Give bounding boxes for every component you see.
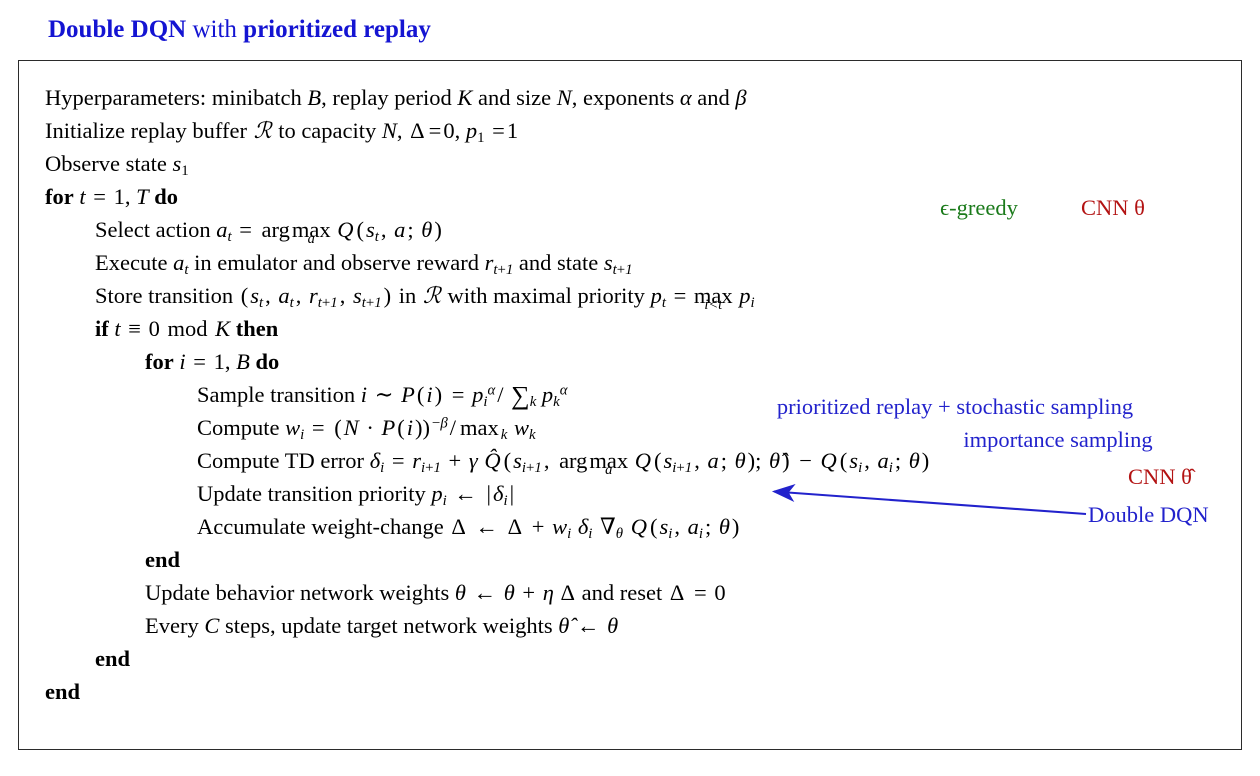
- label-update-behavior: Update behavior network weights: [145, 580, 449, 605]
- kw-end-3: end: [45, 679, 80, 704]
- slide-page: Double DQN with prioritized replay Hyper…: [0, 0, 1260, 776]
- algo-line-select-action: Select action at = argmaxa Q(st, a; θ): [45, 213, 1225, 246]
- label-execute: Execute: [95, 250, 167, 275]
- sym-at-1: at: [216, 217, 231, 242]
- sym-pi-2: pi: [431, 481, 446, 506]
- algo-line-for-t: for t = 1, T do: [45, 180, 1225, 213]
- sym-i-1: i: [179, 349, 185, 374]
- kw-for-1: for: [45, 184, 74, 209]
- algo-line-end-for-t: end: [45, 675, 1225, 708]
- label-every: Every: [145, 613, 199, 638]
- kw-do-1: do: [154, 184, 178, 209]
- title-part-with: with: [186, 16, 243, 43]
- algo-line-update-behavior: Update behavior network weights θ ← θ + …: [45, 576, 1225, 609]
- label-minibatch: minibatch: [212, 85, 302, 110]
- algo-line-update-priority: Update transition priority pi ← |δi|: [45, 477, 1225, 510]
- sym-theta-3: θ: [504, 580, 515, 605]
- kw-end-2: end: [95, 646, 130, 671]
- label-with-maximal-priority: with maximal priority: [447, 283, 644, 308]
- sym-eta-1: η: [543, 580, 554, 605]
- label-sample-transition: Sample transition: [197, 382, 355, 407]
- title-part-double-dqn: Double DQN: [48, 16, 186, 43]
- label-mod-1: mod: [165, 316, 209, 341]
- annotation-epsilon-greedy: ϵ-greedy: [940, 193, 1018, 223]
- label-accumulate-weight-change: Accumulate weight-change: [197, 514, 444, 539]
- sym-N-3: N: [344, 415, 359, 440]
- op-max-under-a-2: maxa: [589, 444, 628, 477]
- sym-Delta-1: Δ: [408, 118, 426, 143]
- sym-t-2: t: [114, 316, 120, 341]
- algo-line-initialize: Initialize replay buffer ℛ to capacity N…: [45, 114, 1225, 147]
- kw-do-2: do: [255, 349, 279, 374]
- annotation-cnn-theta: CNN θ: [1081, 193, 1145, 223]
- sym-Delta-3: Δ: [506, 514, 524, 539]
- sym-T-1: T: [136, 184, 149, 209]
- label-and-state-1: and state: [519, 250, 598, 275]
- kw-then-1: then: [236, 316, 279, 341]
- colon-1: :: [200, 85, 206, 110]
- sym-theta-hat-2: θ̂: [558, 613, 569, 638]
- sym-Delta-4: Δ: [560, 580, 576, 605]
- sym-t-1: t: [79, 184, 85, 209]
- sym-Q-2: Q: [634, 448, 652, 473]
- label-hyperparameters: Hyperparameters: [45, 85, 200, 110]
- label-arg-2: arg: [557, 448, 589, 473]
- label-and-1: and: [697, 85, 730, 110]
- sym-st1-1: st+1: [604, 250, 633, 275]
- algo-line-for-i: for i = 1, B do: [45, 345, 1225, 378]
- title-part-prioritized-replay: prioritized replay: [243, 16, 431, 43]
- sym-theta-2: θ: [455, 580, 466, 605]
- sym-leftarrow-2: ←: [474, 514, 501, 539]
- label-to-capacity: to capacity: [278, 118, 376, 143]
- annotation-cnn-theta-hat: CNN θ̂: [1128, 462, 1192, 492]
- sym-at-2: at: [173, 250, 188, 275]
- label-compute-td-error: Compute TD error: [197, 448, 364, 473]
- algo-line-if-mod: if t ≡ 0 mod K then: [45, 312, 1225, 345]
- sym-leftarrow-4: ←: [575, 613, 602, 638]
- sym-K-2: K: [215, 316, 230, 341]
- sym-st-1: st: [366, 217, 379, 242]
- label-store-transition: Store transition: [95, 283, 233, 308]
- sym-Delta-5: Δ: [668, 580, 686, 605]
- sym-alpha-1: α: [680, 85, 692, 110]
- algo-line-observe-state: Observe state s1: [45, 147, 1225, 180]
- label-observe-state: Observe state: [45, 151, 167, 176]
- algo-line-hyperparameters: Hyperparameters: minibatch B, replay per…: [45, 81, 1225, 114]
- label-in-emulator: in emulator and observe reward: [194, 250, 479, 275]
- algo-line-accumulate: Accumulate weight-change Δ ← Δ + wi δi ∇…: [45, 510, 1225, 543]
- sym-pi-alpha-1: piα: [472, 382, 495, 407]
- sym-ri1-1: ri+1: [412, 448, 441, 473]
- label-arg-1: arg: [260, 217, 292, 242]
- algo-line-store-transition: Store transition (st, at, rt+1, st+1) in…: [45, 279, 1225, 312]
- sym-pi-1: pi: [738, 283, 755, 308]
- label-exponents: exponents: [583, 85, 674, 110]
- sym-rt1-1: rt+1: [485, 250, 514, 275]
- sym-leftarrow-1: ←: [452, 481, 479, 506]
- algo-line-end-if: end: [45, 642, 1225, 675]
- sym-wi-1: wi: [285, 415, 304, 440]
- label-and-size: and size: [478, 85, 551, 110]
- label-steps-update-target: steps, update target network weights: [225, 613, 553, 638]
- algo-line-end-for-i: end: [45, 543, 1225, 576]
- sym-equiv-1: ≡: [126, 316, 143, 341]
- sym-K-1: K: [457, 85, 472, 110]
- sym-Q-4: Q: [630, 514, 648, 539]
- label-compute-1: Compute: [197, 415, 280, 440]
- sym-s1: s1: [172, 151, 188, 176]
- sym-cdot-1: ·: [364, 415, 376, 440]
- sym-i-2: i: [361, 382, 367, 407]
- sym-C-1: C: [204, 613, 219, 638]
- sym-delta-i-2: δi: [493, 481, 508, 506]
- label-and-reset: and reset: [582, 580, 663, 605]
- annotation-prioritized-replay: prioritized replay + stochastic sampling: [777, 392, 1133, 422]
- label-in-1: in: [399, 283, 417, 308]
- label-max-2: max: [458, 415, 501, 440]
- label-replay-period: replay period: [332, 85, 451, 110]
- sym-Qhat-1: Q̂: [483, 448, 501, 473]
- sym-wi-2: wi: [552, 514, 571, 539]
- annotation-importance-sampling: importance sampling: [963, 425, 1152, 455]
- sym-N-1: N: [557, 85, 572, 110]
- sym-B-1: B: [307, 85, 321, 110]
- sym-nabla-theta-1: ∇θ: [599, 514, 624, 539]
- op-max-under-ilt-1: maxi<t: [694, 279, 733, 312]
- sym-Q-1: Q: [336, 217, 354, 242]
- sym-pt-1: pt: [651, 283, 666, 308]
- label-update-transition-priority: Update transition priority: [197, 481, 426, 506]
- sym-R-2: ℛ: [422, 283, 442, 309]
- label-select-action: Select action: [95, 217, 211, 242]
- sym-minus-1: −: [797, 448, 814, 473]
- sym-neg-beta-1: −β: [432, 415, 448, 431]
- sym-beta-1: β: [735, 85, 746, 110]
- sym-pk-alpha-1: pkα: [542, 382, 568, 407]
- kw-end-1: end: [145, 547, 180, 572]
- sym-B-2: B: [236, 349, 250, 374]
- label-initialize-replay-buffer: Initialize replay buffer: [45, 118, 247, 143]
- page-title: Double DQN with prioritized replay: [48, 14, 431, 46]
- kw-if-1: if: [95, 316, 109, 341]
- sym-P-1: P: [401, 382, 415, 407]
- sym-sum-1: ∑: [511, 381, 530, 410]
- sym-theta-1: θ: [421, 217, 432, 242]
- op-max-under-a-1: maxa: [292, 213, 331, 246]
- algo-line-execute: Execute at in emulator and observe rewar…: [45, 246, 1225, 279]
- sym-p1: p1: [466, 118, 485, 143]
- sym-Delta-2: Δ: [449, 514, 467, 539]
- sym-theta-4: θ: [607, 613, 618, 638]
- kw-for-2: for: [145, 349, 174, 374]
- sym-N-2: N: [382, 118, 397, 143]
- annotation-double-dqn: Double DQN: [1088, 500, 1209, 530]
- sym-Q-3: Q: [820, 448, 838, 473]
- sym-gamma-1: γ: [469, 448, 478, 473]
- sym-sim-1: ∼: [373, 382, 396, 407]
- sym-wk-1: wk: [513, 415, 537, 440]
- sym-theta-hat-1: θ̂: [769, 448, 780, 473]
- sym-delta-i-3: δi: [577, 514, 594, 539]
- sym-delta-i-1: δi: [370, 448, 385, 473]
- sym-leftarrow-3: ←: [472, 580, 499, 605]
- algo-line-every-c-steps: Every C steps, update target network wei…: [45, 609, 1225, 642]
- sym-R-1: ℛ: [253, 118, 273, 144]
